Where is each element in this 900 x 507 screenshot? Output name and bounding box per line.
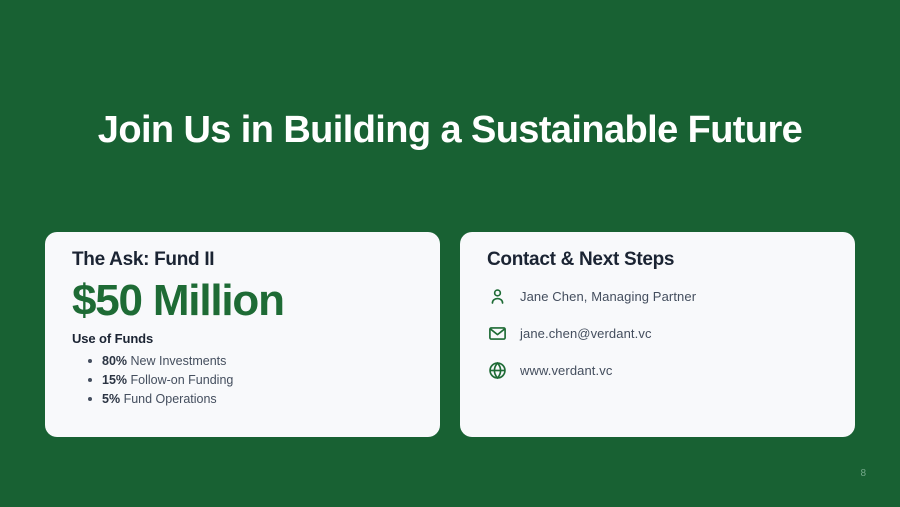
envelope-icon <box>487 323 507 343</box>
list-item: Jane Chen, Managing Partner <box>487 285 829 307</box>
allocation-label: Follow-on Funding <box>131 373 234 387</box>
list-item[interactable]: jane.chen@verdant.vc <box>487 322 829 344</box>
allocation-percent: 80% <box>102 354 127 368</box>
allocation-label: Fund Operations <box>124 392 217 406</box>
person-icon <box>487 286 507 306</box>
contact-email: jane.chen@verdant.vc <box>520 326 652 341</box>
page-number: 8 <box>860 468 866 479</box>
contact-list: Jane Chen, Managing Partner jane.chen@ve… <box>487 285 829 381</box>
ask-card: The Ask: Fund II $50 Million Use of Fund… <box>45 232 440 437</box>
page-title: Join Us in Building a Sustainable Future <box>90 108 810 154</box>
slide-canvas: Join Us in Building a Sustainable Future… <box>0 0 900 507</box>
use-of-funds-label: Use of Funds <box>72 331 414 346</box>
ask-amount: $50 Million <box>72 277 414 325</box>
contact-name: Jane Chen, Managing Partner <box>520 289 696 304</box>
contact-card: Contact & Next Steps Jane Chen, Managing… <box>460 232 855 437</box>
contact-card-title: Contact & Next Steps <box>487 249 829 271</box>
ask-card-title: The Ask: Fund II <box>72 249 414 271</box>
allocation-list: 80% New Investments 15% Follow-on Fundin… <box>72 352 414 409</box>
list-item: 15% Follow-on Funding <box>102 371 414 390</box>
contact-website: www.verdant.vc <box>520 363 612 378</box>
card-row: The Ask: Fund II $50 Million Use of Fund… <box>45 232 855 437</box>
allocation-label: New Investments <box>131 354 227 368</box>
allocation-percent: 15% <box>102 373 127 387</box>
list-item: 80% New Investments <box>102 352 414 371</box>
allocation-percent: 5% <box>102 392 120 406</box>
list-item[interactable]: www.verdant.vc <box>487 359 829 381</box>
list-item: 5% Fund Operations <box>102 390 414 409</box>
globe-icon <box>487 360 507 380</box>
